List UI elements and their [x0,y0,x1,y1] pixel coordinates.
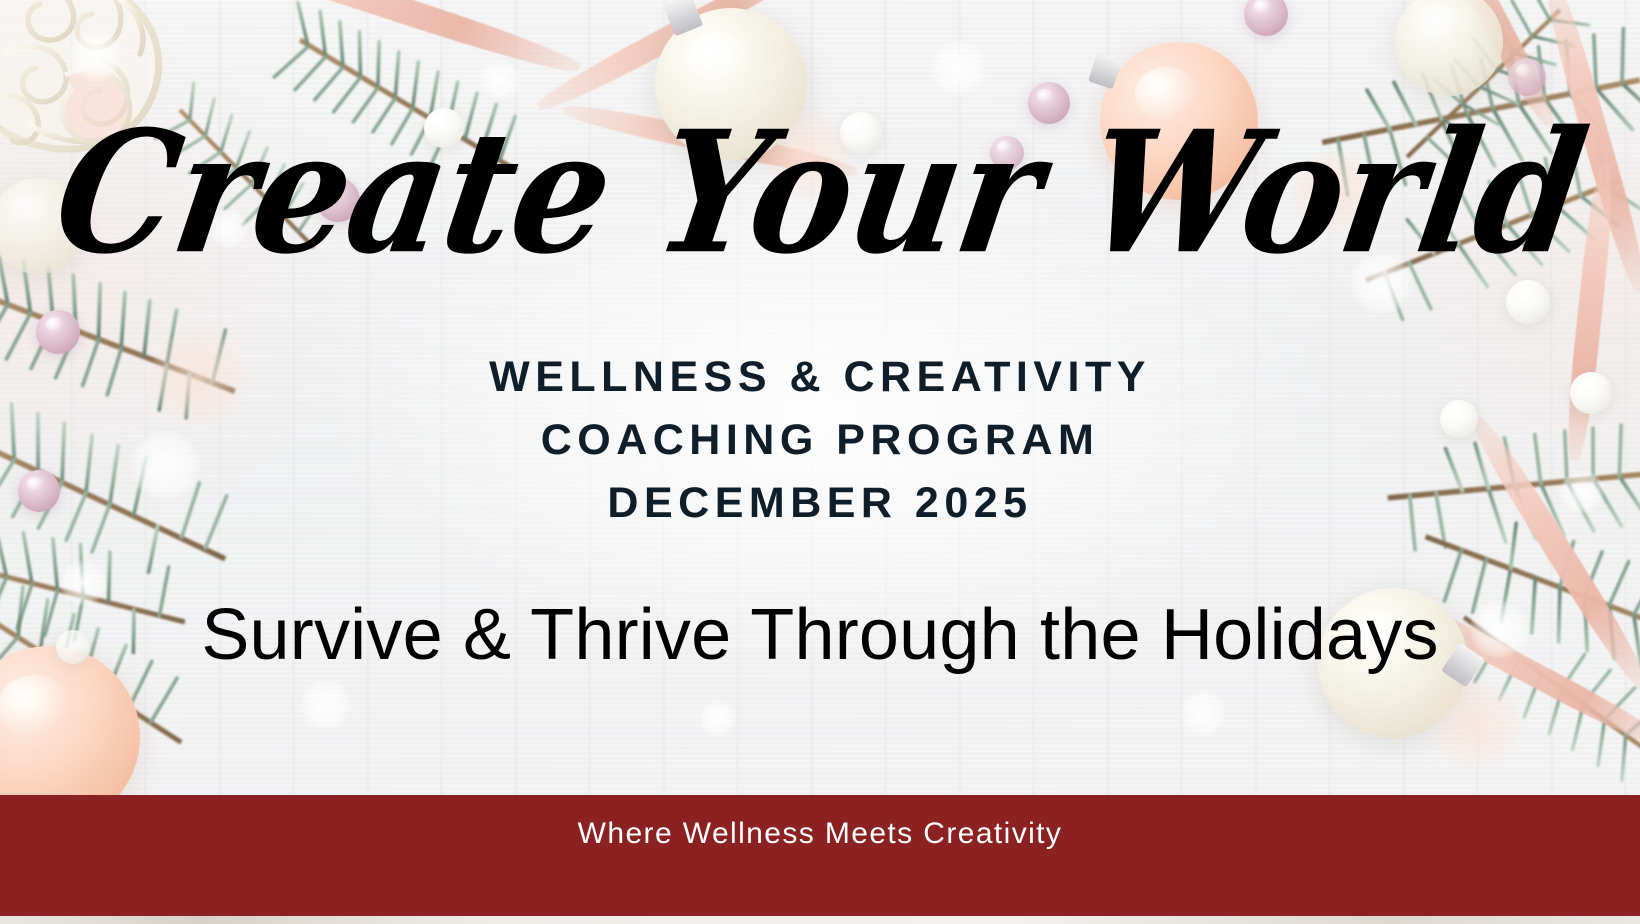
bottom-image-sliver [0,916,1640,924]
program-details: WELLNESS & CREATIVITY COACHING PROGRAM D… [489,346,1151,534]
holiday-promo-banner: Create Your World WELLNESS & CREATIVITY … [0,0,1640,924]
footer-bar: Where Wellness Meets Creativity [0,795,1640,916]
tagline: Survive & Thrive Through the Holidays [201,594,1438,676]
program-line-3: DECEMBER 2025 [489,472,1151,535]
banner-content: Create Your World WELLNESS & CREATIVITY … [0,0,1640,924]
script-headline: Create Your World [45,109,1594,277]
program-line-2: COACHING PROGRAM [489,409,1151,472]
footer-slogan: Where Wellness Meets Creativity [578,817,1063,916]
program-line-1: WELLNESS & CREATIVITY [489,346,1151,409]
